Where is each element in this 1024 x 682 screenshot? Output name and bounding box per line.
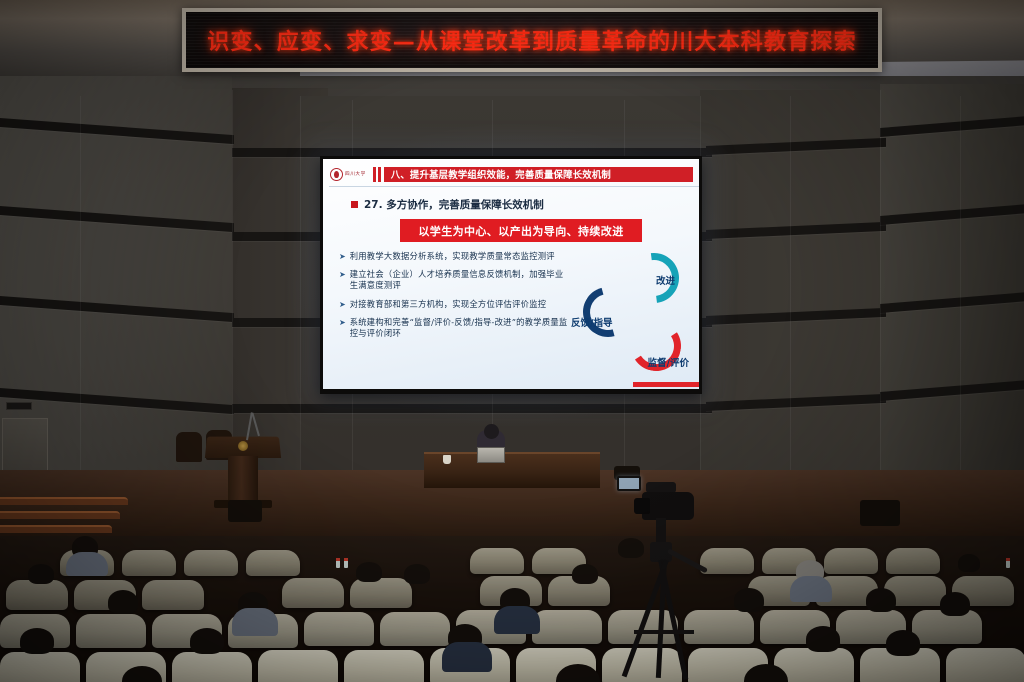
attendee [108,590,138,614]
seat [122,550,176,576]
right-wall [700,90,900,520]
tripod-spreader [634,630,694,634]
seat [350,578,412,608]
seat [344,650,424,682]
attendee [866,588,896,612]
attendee [28,564,54,584]
list-item: ➤ 利用教学大数据分析系统，实现教学质量常态监控测评 [339,251,571,262]
attendee [442,642,492,672]
slide-ribbon: 以学生为中心、以产出为导向、持续改进 [400,219,642,242]
auditorium-scene: 识变、应变、求变—从课堂改革到质量革命的川大本科教育探索 四川大学 八、提升基层… [0,0,1024,682]
seat [946,648,1024,682]
seat [824,548,878,574]
list-item: ➤ 对接教育部和第三方机构，实现全方位评估评价监控 [339,299,571,310]
ribbon-text: 以学生为中心、以产出为导向、持续改进 [418,223,623,239]
camera-lens-icon [634,498,650,514]
seat [142,580,204,610]
cycle-label-monitor: 监督/评价 [648,355,689,369]
projection-screen: 四川大学 八、提升基层教学组织效能，完善质量保障长效机制 27. 多方协作，完善… [320,156,702,394]
bullet-square-icon [351,201,358,208]
led-banner: 识变、应变、求变—从课堂改革到质量革命的川大本科教育探索 [182,8,882,72]
seat [258,650,338,682]
attendee [958,554,980,572]
audience-seating [0,536,1024,682]
floor-monitor-speaker [860,500,900,526]
slide-header-title: 八、提升基层教学组织效能，完善质量保障长效机制 [391,167,611,181]
water-bottle [336,558,340,568]
university-seal-icon [330,168,343,181]
seat [304,612,374,646]
arrow-bullet-icon: ➤ [339,269,346,291]
attendee [494,606,540,634]
attendee [572,564,598,584]
seat [380,612,450,646]
slide-section-heading: 27. 多方协作，完善质量保障长效机制 [351,197,544,212]
presentation-slide: 四川大学 八、提升基层教学组织效能，完善质量保障长效机制 27. 多方协作，完善… [323,159,699,389]
tripod-pan-handle[interactable] [667,548,708,573]
slide-accent-bar [633,382,699,387]
attendee [232,608,278,636]
seat [282,578,344,608]
header-tick-marks [373,167,381,182]
seat [172,652,252,682]
seat [0,652,80,682]
attendee [190,628,224,654]
seat [886,548,940,574]
attendee [806,626,840,652]
attendee [404,564,430,584]
attendee [886,630,920,656]
attendee [356,562,382,582]
bullet-text: 对接教育部和第三方机构，实现全方位评估评价监控 [350,299,547,310]
cup [443,455,451,464]
slide-bullet-list: ➤ 利用教学大数据分析系统，实现教学质量常态监控测评 ➤ 建立社会（企业）人才培… [339,251,571,346]
attendee [940,592,970,616]
exit-sign [6,402,32,410]
attendee [66,552,108,576]
wall-panel-seam [880,90,881,516]
banner-title-text: 识变、应变、求变—从课堂改革到质量革命的川大本科教育探索 [207,24,857,56]
led-banner-screen: 识变、应变、求变—从课堂改革到质量革命的川大本科教育探索 [186,12,878,68]
water-bottle [1006,558,1010,568]
stage-chair [176,432,202,462]
arrow-bullet-icon: ➤ [339,251,346,262]
seat [184,550,238,576]
university-logo: 四川大学 [330,168,366,181]
presenter-laptop [477,447,505,463]
seat [246,550,300,576]
presenter-head [484,424,499,439]
wall-panel-seam [960,96,961,516]
wall-panel-seam [300,96,301,510]
arrow-bullet-icon: ➤ [339,317,346,339]
camera-lcd-screen [617,476,641,491]
seat [76,614,146,648]
arrow-bullet-icon: ➤ [339,299,346,310]
lectern-emblem-icon [238,441,248,451]
attendee [20,628,54,654]
bullet-text: 利用教学大数据分析系统，实现教学质量常态监控测评 [350,251,555,262]
attendee [734,588,764,612]
section-heading-text: 27. 多方协作，完善质量保障长效机制 [364,197,544,212]
slide-header: 四川大学 八、提升基层教学组织效能，完善质量保障长效机制 [323,163,699,185]
cycle-label-improve: 改进 [656,273,675,287]
seat [6,580,68,610]
wall-trim-band [232,404,712,413]
slide-header-bar: 八、提升基层教学组织效能，完善质量保障长效机制 [384,167,693,182]
list-item: ➤ 系统建构和完善“监督/评价-反馈/指导-改进”的教学质量监控与评价闭环 [339,317,571,339]
water-bottle [344,558,348,568]
wall-panel-seam [790,96,791,514]
lectern-column [228,456,258,504]
university-name-label: 四川大学 [345,171,366,177]
floor-monitor-speaker [228,500,262,522]
seat [470,548,524,574]
bullet-text: 系统建构和完善“监督/评价-反馈/指导-改进”的教学质量监控与评价闭环 [350,317,571,339]
header-rule [329,186,699,187]
bullet-text: 建立社会（企业）人才培养质量信息反馈机制，加强毕业生满意度测评 [350,269,571,291]
wall-panel-seam [80,96,81,516]
list-item: ➤ 建立社会（企业）人才培养质量信息反馈机制，加强毕业生满意度测评 [339,269,571,291]
video-camera-tripod [612,470,722,682]
improvement-cycle-diagram: 改进 反馈/指导 监督/评价 [573,251,691,379]
seat [532,610,602,644]
cycle-label-feedback: 反馈/指导 [571,315,612,329]
attendee [790,576,832,602]
